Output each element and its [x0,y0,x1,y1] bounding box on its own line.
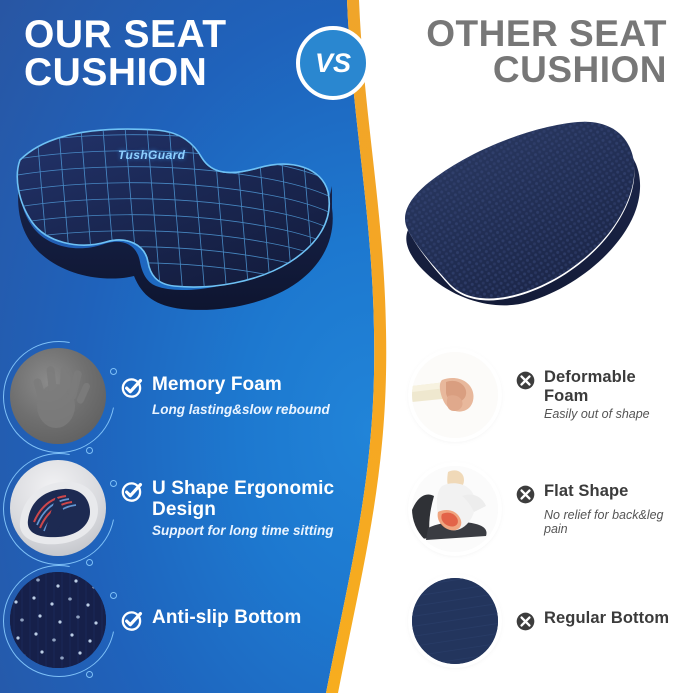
handprint-in-foam-thumb [10,348,106,444]
nonslip-dotted-fabric-thumb [10,572,106,668]
feature-row-flat-shape: Flat Shape No relief for back&leg pain [412,466,679,552]
check-circle-icon [120,479,145,504]
feature-title: U Shape Ergonomic Design [152,478,362,521]
feature-row-deformable-foam: Deformable Foam Easily out of shape [412,352,679,438]
feature-row-memory-foam: Memory Foam Long lasting&slow rebound [10,348,330,444]
our-heading: OUR SEAT CUSHION [24,16,309,92]
plain-fabric-icon [412,578,498,664]
feature-subtitle: Easily out of shape [544,407,679,421]
feature-subtitle: No relief for back&leg pain [544,508,679,537]
feature-subtitle: Support for long time sitting [152,523,362,539]
feature-row-anti-slip: Anti-slip Bottom [10,572,301,668]
feature-title: Flat Shape [544,482,628,500]
feature-row-regular-bottom: Regular Bottom [412,578,669,664]
brand-label: TushGuard [118,148,185,162]
decor-dot [86,447,93,454]
back-pain-person-thumb [412,466,498,552]
x-circle-icon [514,610,537,633]
x-circle-icon [514,483,537,506]
feature-subtitle: Long lasting&slow rebound [152,402,330,418]
x-circle-icon [514,369,537,392]
feature-title: Regular Bottom [544,609,669,627]
other-heading-line2: CUSHION [367,52,667,88]
other-heading: OTHER SEAT CUSHION [367,16,667,89]
decor-dot [110,480,117,487]
plain-navy-fabric-thumb [412,578,498,664]
comparison-infographic: OUR SEAT CUSHION OTHER SEAT CUSHION VS [0,0,679,693]
feature-row-u-shape: U Shape Ergonomic Design Support for lon… [10,460,362,556]
vs-badge: VS [296,26,370,100]
decor-dot [110,592,117,599]
back-pain-icon [412,466,498,552]
check-circle-icon [120,375,145,400]
other-cushion-image [378,112,668,322]
our-heading-line1: OUR SEAT [24,16,309,54]
decor-dot [86,559,93,566]
decor-dot [110,368,117,375]
our-cushion-image: TushGuard [6,116,336,326]
our-heading-line2: CUSHION [24,54,309,92]
feature-title: Memory Foam [152,374,282,395]
flat-cushion-illustration [378,112,668,322]
decor-dot [86,671,93,678]
vs-label: VS [315,48,351,79]
feature-title: Anti-slip Bottom [152,607,301,628]
check-circle-icon [120,608,145,633]
other-heading-line1: OTHER SEAT [367,16,667,52]
feature-title: Deformable Foam [544,368,679,405]
ergonomic-cushion-thumb [10,460,106,556]
hand-squeeze-foam-icon [412,352,498,438]
hand-squeezing-foam-thumb [412,352,498,438]
